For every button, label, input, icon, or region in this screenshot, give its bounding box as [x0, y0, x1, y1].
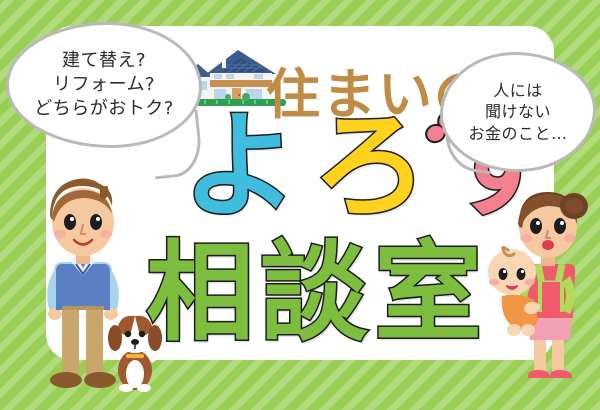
bubble-left-line-2: リフォーム? — [53, 73, 155, 97]
bubble-left-text: 建て替え? リフォーム? どちらがおトク? — [9, 25, 199, 145]
bubble-left-line-1: 建て替え? — [62, 49, 146, 73]
bubble-right-line-2: 聞けない — [485, 101, 551, 122]
dog-character-illustration — [104, 310, 166, 394]
bubble-right-line-1: 人には — [493, 80, 543, 101]
title-kanji-dan: 談 — [260, 240, 368, 348]
woman-with-baby-illustration — [484, 188, 596, 394]
title-kanji-shitsu: 室 — [374, 240, 482, 348]
question-bubble-right: 人には 聞けない お金のこと… — [440, 52, 596, 172]
title-kanji-row: 相 談 室 — [146, 240, 482, 348]
title-kana-ro: ろ — [312, 112, 428, 222]
question-bubble-left: 建て替え? リフォーム? どちらがおトク? — [6, 22, 202, 148]
bubble-right-text: 人には 聞けない お金のこと… — [443, 55, 593, 169]
poster-canvas: 住まいの よ ろ す 相 談 室 — [0, 0, 600, 410]
bubble-right-line-3: お金のこと… — [468, 123, 567, 144]
bubble-left-line-3: どちらがおトク? — [34, 97, 174, 121]
